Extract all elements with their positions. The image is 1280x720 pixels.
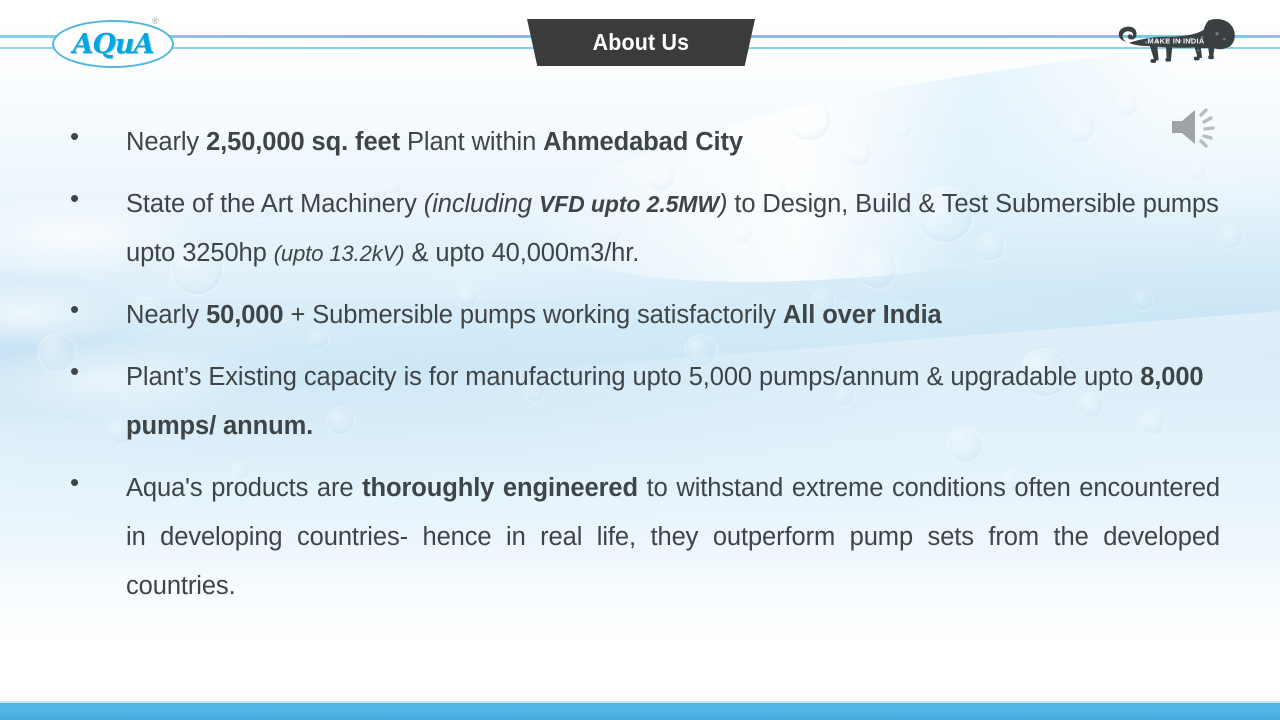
make-in-india-logo: MAKE IN INDIA: [1114, 12, 1238, 74]
bullet-item: •State of the Art Machinery (including V…: [0, 180, 1280, 278]
bullet-text: State of the Art Machinery (including VF…: [126, 180, 1220, 278]
bullet-item: •Nearly 50,000 + Submersible pumps worki…: [0, 291, 1280, 340]
text-segment: & upto 40,000m3/hr.: [404, 239, 639, 267]
text-segment: Plant’s Existing capacity is for manufac…: [126, 363, 1140, 391]
text-segment: All over India: [783, 301, 942, 329]
bullet-text: Plant’s Existing capacity is for manufac…: [126, 353, 1220, 451]
bullet-item: •Nearly 2,50,000 sq. feet Plant within A…: [0, 118, 1280, 167]
registered-trademark-icon: ®: [152, 16, 159, 26]
text-segment: Nearly: [126, 128, 206, 156]
bullet-list: •Nearly 2,50,000 sq. feet Plant within A…: [0, 118, 1280, 624]
text-segment: State of the Art Machinery: [126, 190, 424, 218]
bullet-marker-icon: •: [62, 118, 126, 154]
footer-bar: [0, 703, 1280, 720]
bullet-text: Nearly 2,50,000 sq. feet Plant within Ah…: [126, 118, 1220, 167]
text-segment: VFD upto 2.5MW: [539, 191, 719, 217]
speaker-icon[interactable]: [1166, 103, 1224, 151]
text-segment: Nearly: [126, 301, 206, 329]
bullet-marker-icon: •: [62, 353, 126, 389]
text-segment: 2,50,000 sq. feet: [206, 128, 400, 156]
text-segment: 50,000: [206, 301, 283, 329]
text-segment: Ahmedabad City: [543, 128, 743, 156]
text-segment: Plant within: [400, 128, 543, 156]
bullet-text: Aqua's products are thoroughly engineere…: [126, 464, 1220, 611]
bullet-marker-icon: •: [62, 464, 126, 500]
aqua-logo: AQuA: [52, 20, 174, 68]
slide-canvas: AQuA ® About Us: [0, 0, 1280, 720]
text-segment: thoroughly engineered: [362, 474, 638, 502]
bullet-marker-icon: •: [62, 180, 126, 216]
text-segment: (including: [424, 190, 539, 218]
bullet-item: •Plant’s Existing capacity is for manufa…: [0, 353, 1280, 451]
bullet-marker-icon: •: [62, 291, 126, 327]
bullet-text: Nearly 50,000 + Submersible pumps workin…: [126, 291, 1220, 340]
page-title: About Us: [593, 29, 690, 56]
text-segment: Aqua's products are: [126, 474, 362, 502]
make-in-india-label: MAKE IN INDIA: [1148, 37, 1205, 46]
slide-title-plaque: About Us: [527, 19, 755, 66]
bullet-item: •Aqua's products are thoroughly engineer…: [0, 464, 1280, 611]
aqua-logo-text: AQuA: [72, 31, 153, 58]
text-segment: (upto 13.2kV): [274, 241, 405, 266]
text-segment: + Submersible pumps working satisfactori…: [283, 301, 782, 329]
